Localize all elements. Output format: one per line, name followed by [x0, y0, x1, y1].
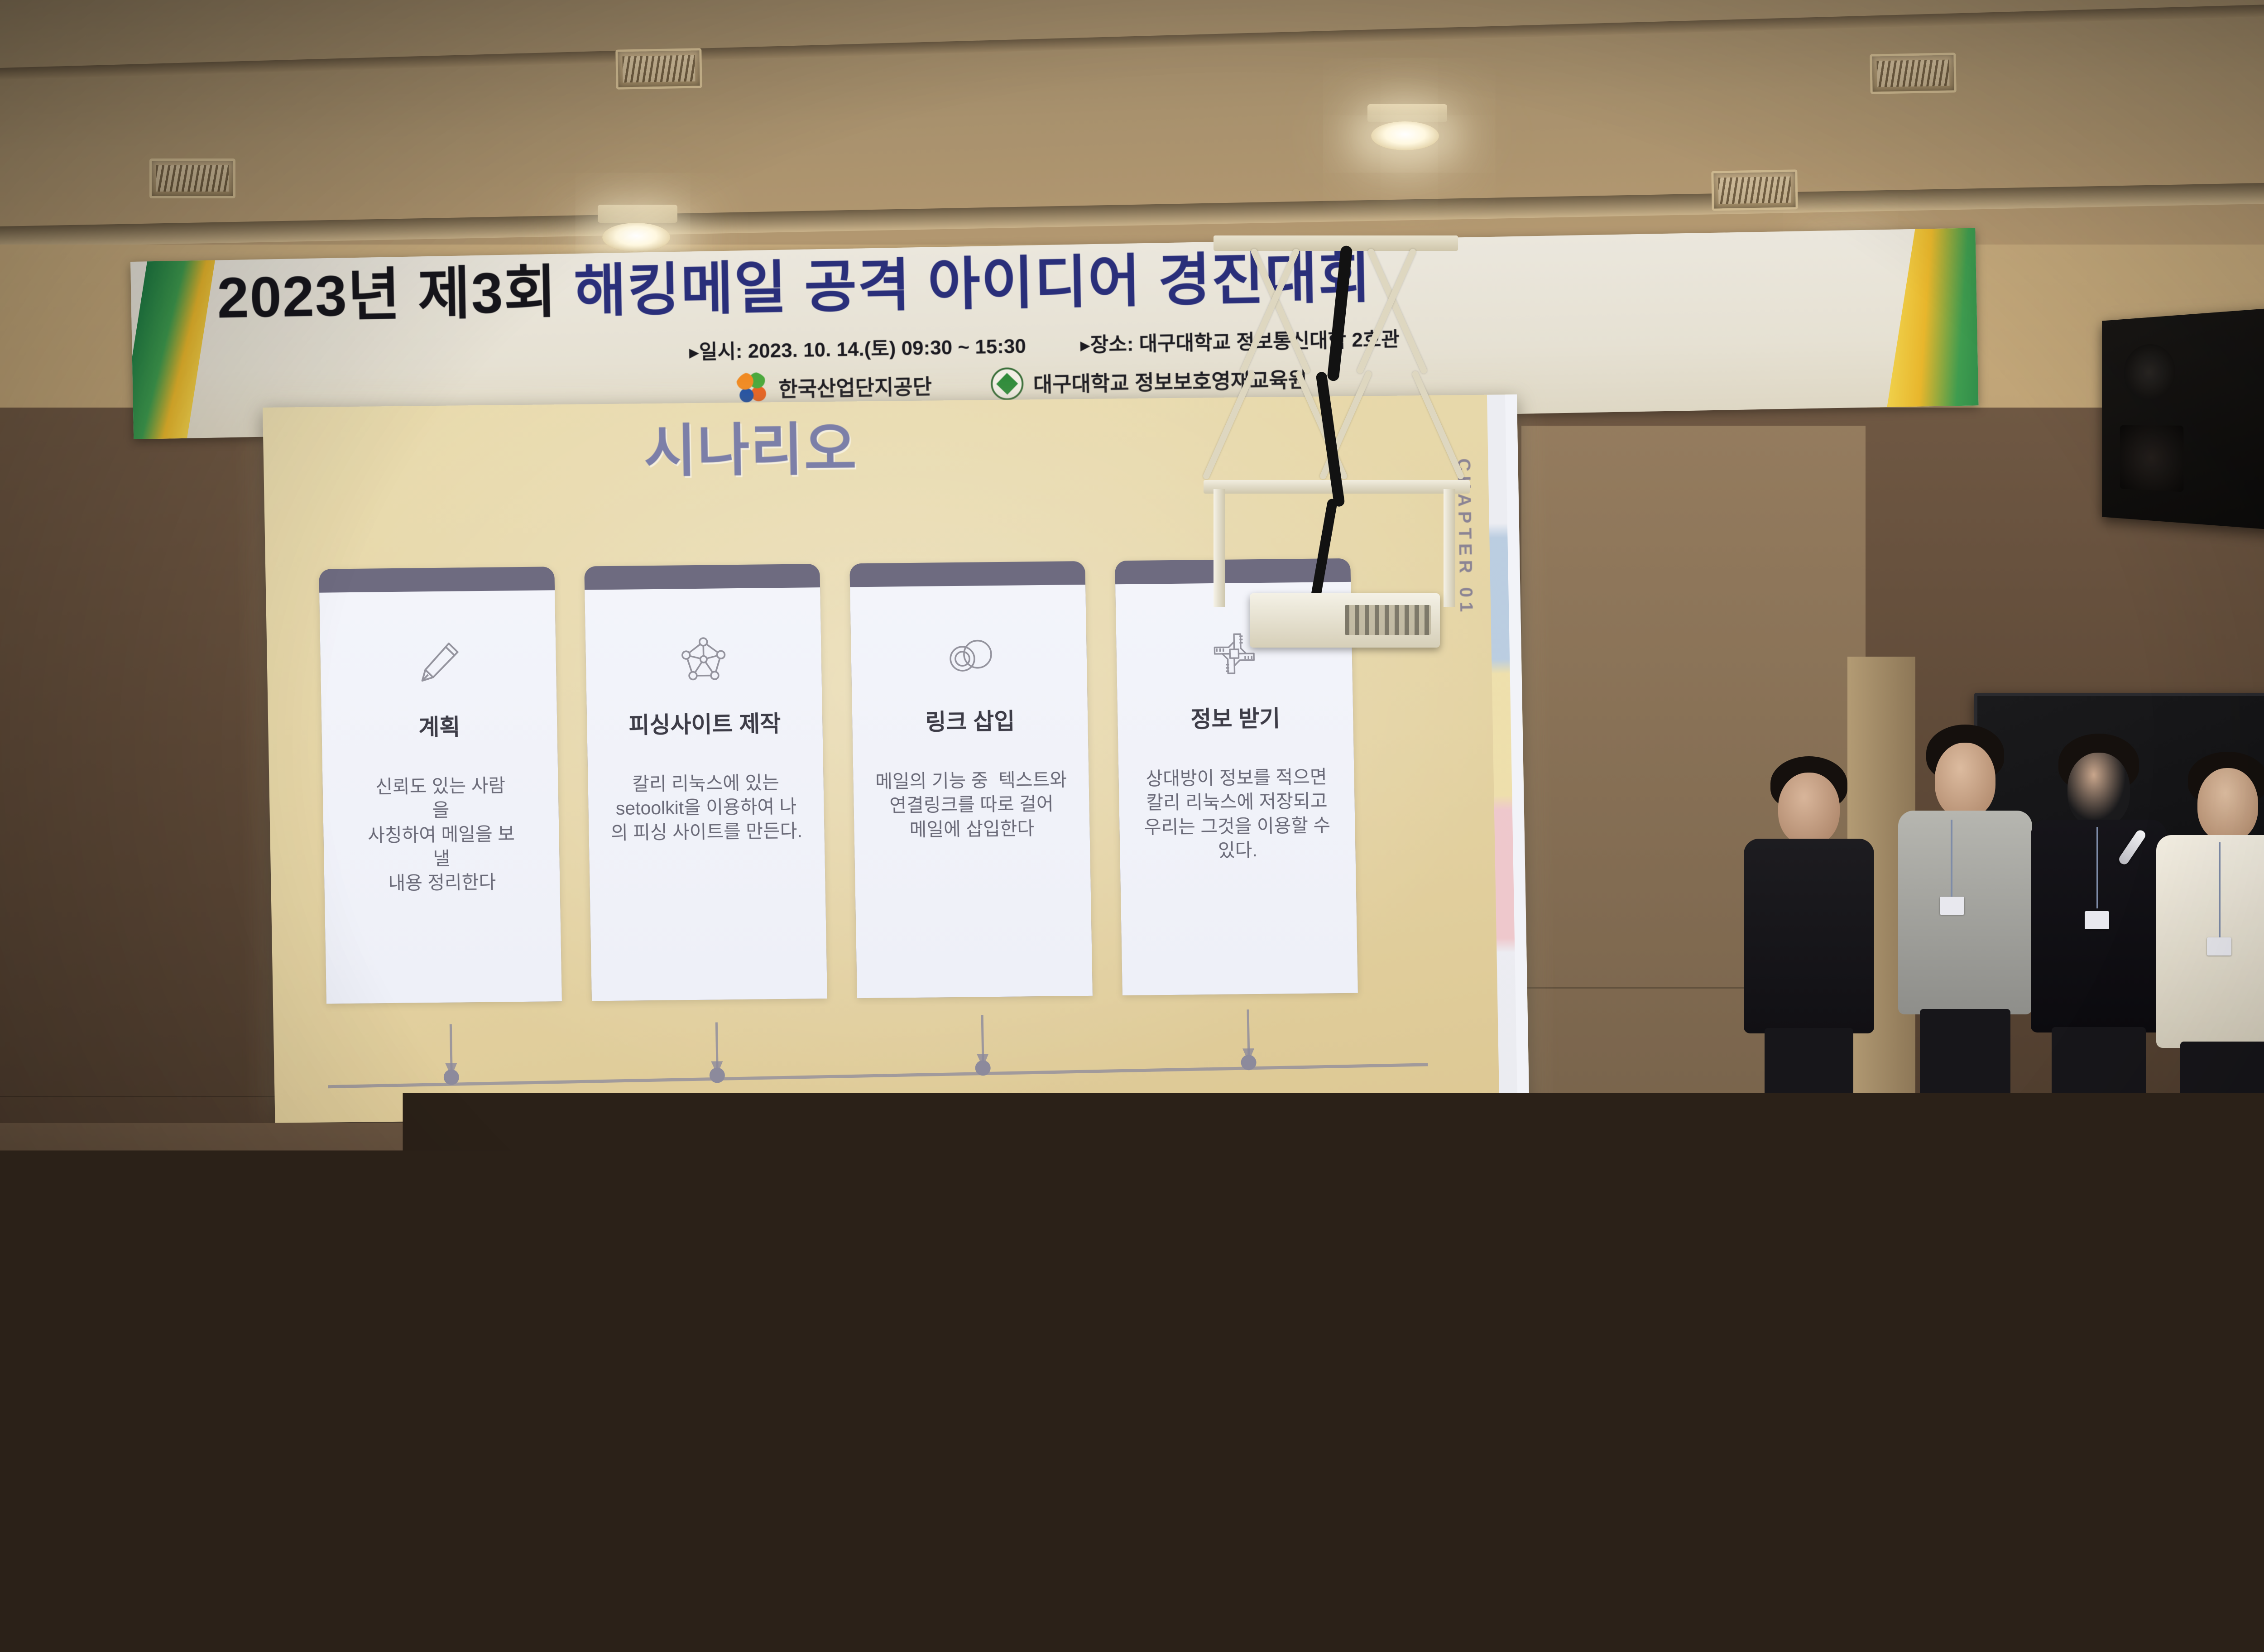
smartphone-recording[interactable] [2122, 1237, 2220, 1294]
rig-ceiling-plate [1214, 235, 1458, 251]
audience-head [2110, 1295, 2207, 1408]
lanyard [2219, 842, 2221, 937]
card-desc: 신뢰도 있는 사람을사칭하여 메일을 보낼내용 정리한다 [367, 773, 516, 896]
projector-cable [1327, 245, 1353, 381]
lanyard [1951, 820, 1952, 897]
downlight-housing [598, 205, 677, 223]
name-badge [2207, 937, 2231, 956]
ceiling-vent-icon [1711, 169, 1798, 211]
sponsor-kicox: 한국산업단지공단 [735, 369, 932, 406]
banner-date: ▸일시: 2023. 10. 14.(토) 09:30 ~ 15:30 [689, 335, 1026, 364]
card-title: 정보 받기 [1190, 700, 1281, 734]
auditorium-photo: 2023년 제3회 해킹메일 공격 아이디어 경진대회 ▸일시: 2023. 1… [0, 0, 2264, 1652]
card-title: 피싱사이트 제작 [628, 706, 781, 740]
seat [1675, 1215, 1784, 1305]
audience-head [824, 1292, 921, 1405]
ceiling-vent-icon [1870, 53, 1957, 94]
seat [1087, 1534, 1286, 1652]
card-body: 계획 신뢰도 있는 사람을사칭하여 메일을 보낼내용 정리한다 [319, 590, 562, 1004]
seat [670, 1293, 797, 1402]
daegu-univ-logo-icon [990, 367, 1023, 400]
audience-head [457, 1390, 571, 1522]
banner-stripe-left [130, 242, 218, 439]
seat [1621, 1301, 1748, 1409]
seat [706, 1531, 906, 1652]
card-body: 피싱사이트 제작 칼리 리눅스에 있는setoolkit을 이용하여 나의 피싱… [585, 587, 827, 1001]
projector-ports [1345, 605, 1431, 635]
seat [534, 1210, 638, 1298]
seat [326, 1527, 525, 1652]
card-desc: 칼리 리눅스에 있는setoolkit을 이용하여 나의 피싱 사이트를 만든다… [610, 771, 803, 845]
linked-circles-icon [941, 629, 997, 684]
card-desc: 상대방이 정보를 적으면칼리 리눅스에 저장되고우리는 그것을 이용할 수있다. [1143, 765, 1331, 863]
seat [1467, 1538, 1666, 1652]
timeline-node [1241, 1009, 1256, 1077]
timeline-node [444, 1024, 459, 1092]
banner-title-dark: 2023년 제3회 [216, 259, 575, 330]
scenario-timeline [327, 1016, 1429, 1100]
seat [1041, 1216, 1146, 1304]
card-title: 링크 삽입 [925, 703, 1015, 737]
speaker-driver [2124, 343, 2175, 401]
audience-head [503, 1513, 652, 1652]
audience-head [1463, 1295, 1560, 1408]
seat [308, 1399, 462, 1535]
seat [358, 1291, 484, 1399]
seat [1304, 1298, 1431, 1407]
seat [1327, 1407, 1481, 1542]
reserved-seat-label: 부모석 [1986, 1491, 2055, 1525]
seat [2228, 1540, 2264, 1652]
audience-head [1481, 1397, 1594, 1529]
network-nodes-icon [676, 632, 731, 687]
kicox-logo-icon [735, 371, 769, 405]
ceiling-downlight-icon [602, 223, 670, 252]
rig-leg [1444, 489, 1455, 607]
ceiling-vent-icon [615, 48, 702, 89]
card-title: 계획 [418, 709, 460, 742]
ceiling-vent-icon [149, 158, 235, 198]
sponsor-kicox-label: 한국산업단지공단 [778, 370, 932, 403]
audience-head [1820, 1399, 1933, 1531]
scenario-card: 계획 신뢰도 있는 사람을사칭하여 메일을 보낼내용 정리한다 [319, 567, 562, 1004]
projector-cable [1309, 498, 1338, 607]
lanyard [2096, 827, 2098, 908]
reserved-seat-sign: 부모석 [1955, 1447, 2085, 1542]
audience-head [181, 1291, 278, 1404]
seat [657, 1214, 761, 1302]
seat [987, 1404, 1141, 1540]
audience-head [1141, 1293, 1238, 1407]
seat [0, 1214, 86, 1304]
audience-head [254, 1213, 340, 1310]
card-body: 링크 삽입 메일의 기능 중 텍스트와연결링크를 따로 걸어메일에 삽입한다 [850, 585, 1093, 998]
presenter-2 [1893, 725, 2038, 1227]
audience-head [2160, 1397, 2264, 1528]
seat [987, 1295, 1114, 1404]
speaker-woofer [2120, 425, 2184, 492]
seat [648, 1402, 801, 1538]
seat [1358, 1213, 1467, 1303]
projector-body [1250, 593, 1440, 648]
scenario-card: 피싱사이트 제작 칼리 리눅스에 있는setoolkit을 이용하여 나의 피싱… [584, 564, 827, 1001]
timeline-axis [328, 1063, 1428, 1088]
presenter-1 [1734, 756, 1884, 1223]
ceiling-downlight-icon [1371, 121, 1439, 150]
card-desc: 메일의 기능 중 텍스트와연결링크를 따로 걸어메일에 삽입한다 [875, 768, 1068, 842]
name-badge [2085, 911, 2109, 929]
seat [1938, 1299, 2065, 1407]
seat [2255, 1296, 2264, 1405]
audience-head [1141, 1395, 1254, 1526]
timeline-node [975, 1015, 990, 1083]
audience-head [118, 1386, 231, 1517]
audience-head [801, 1393, 915, 1524]
pencil-icon [411, 634, 466, 689]
loudspeaker-icon [2102, 303, 2264, 535]
seat [0, 1395, 127, 1531]
audience-head [2024, 1527, 2173, 1652]
ceiling-projector-icon [1195, 235, 1476, 634]
timeline-node [710, 1022, 724, 1090]
audience-head [503, 1287, 600, 1400]
rig-leg [1214, 489, 1225, 607]
slide-title: 시나리오 [643, 403, 858, 488]
scenario-card: 링크 삽입 메일의 기능 중 텍스트와연결링크를 따로 걸어메일에 삽입한다 [849, 561, 1093, 998]
audience-seating: 부모석 [0, 1159, 2264, 1652]
seat [1847, 1542, 2047, 1652]
audience-head [1784, 1298, 1881, 1411]
downlight-housing [1367, 104, 1447, 122]
name-badge [1940, 897, 1964, 915]
